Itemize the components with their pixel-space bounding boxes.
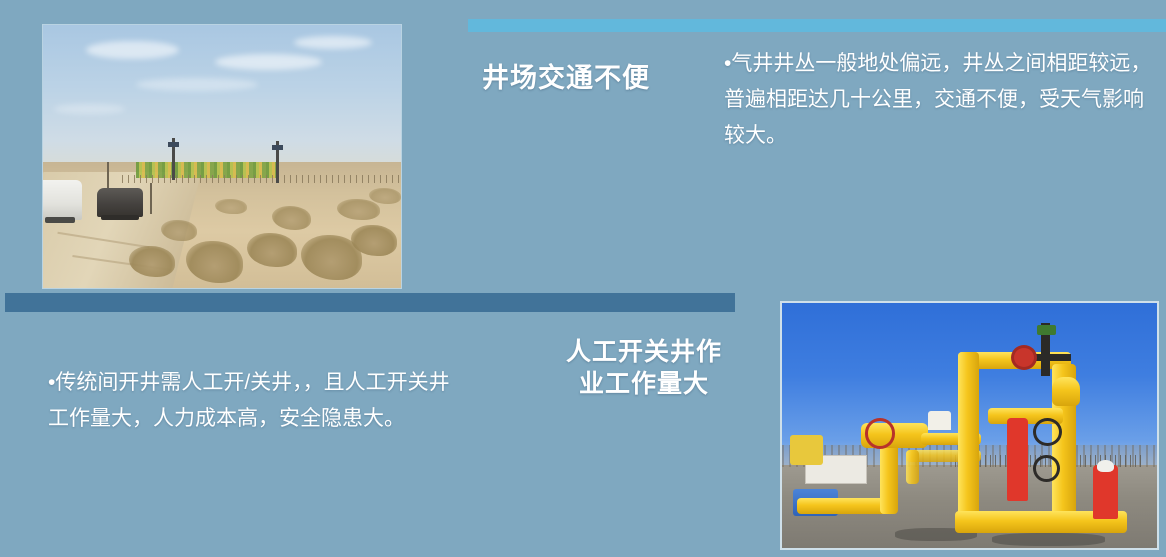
wellhead-photo-content — [782, 303, 1157, 548]
section-2-title-line-1: 人工开关井作 — [546, 336, 742, 368]
background-pipe — [906, 450, 919, 484]
section-2-bullet-text: •传统间开井需人工开/关井，，且人工开关井工作量大，人力成本高，安全隐患大。 — [48, 365, 468, 437]
worker-red-coverall — [1093, 465, 1117, 519]
cloud-shape — [136, 78, 258, 91]
slide-canvas: 井场交通不便 •气井井丛一般地处偏远，井丛之间相距较远，普遍相距达几十公里，交通… — [0, 0, 1166, 557]
ground-shadow — [992, 533, 1105, 545]
section-2-title-line-2: 业工作量大 — [546, 368, 742, 400]
accent-bar-middle — [5, 293, 735, 312]
cloud-shape — [86, 41, 179, 59]
riser-pipe — [1052, 377, 1080, 406]
section-2-title: 人工开关井作 业工作量大 — [546, 336, 742, 400]
yellow-insulation-box — [790, 435, 824, 464]
solar-panel-mast — [172, 138, 175, 180]
safety-helmet — [1097, 460, 1114, 472]
red-valve-wheel — [865, 418, 895, 449]
white-van — [43, 180, 82, 219]
green-valve — [1037, 325, 1056, 335]
accent-bar-top — [468, 19, 1166, 32]
worker-red-coverall — [1007, 418, 1028, 501]
dark-valve-wheel — [1033, 418, 1062, 446]
wellsite-desert-photo — [42, 24, 402, 289]
desert-shrub — [161, 220, 197, 241]
fence-line — [122, 175, 401, 183]
utility-pole — [150, 183, 152, 215]
section-1-bullet-text: •气井井丛一般地处偏远，井丛之间相距较远，普遍相距达几十公里，交通不便，受天气影… — [724, 46, 1152, 154]
dark-valve-wheel — [1033, 455, 1060, 482]
wellhead-piping-photo — [780, 301, 1159, 550]
dark-suv — [97, 188, 144, 217]
cloud-shape — [294, 36, 373, 49]
arch-left-pipe — [958, 352, 979, 528]
section-1-title: 井场交通不便 — [482, 61, 650, 96]
utility-pole — [107, 162, 109, 188]
cloud-shape — [215, 54, 322, 70]
solar-panel-mast — [276, 141, 279, 183]
wellsite-photo-content — [43, 25, 401, 288]
white-instrument-box — [928, 411, 951, 431]
